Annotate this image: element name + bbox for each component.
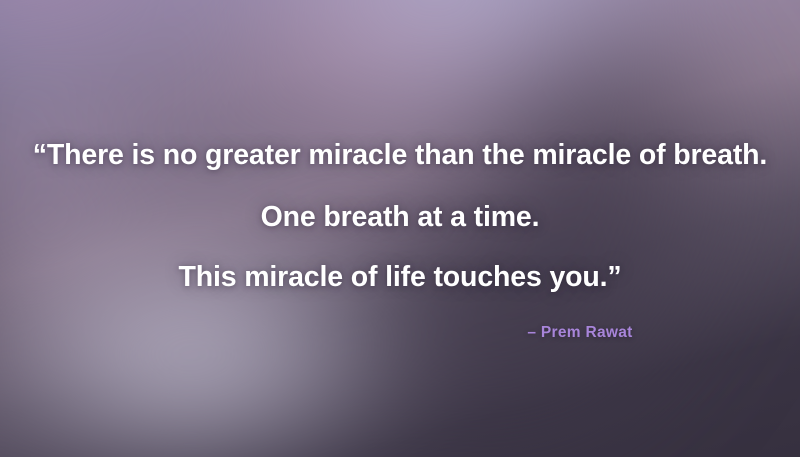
quote-line-2: One breath at a time. (0, 201, 800, 234)
quote-content: “There is no greater miracle than the mi… (0, 0, 800, 457)
quote-card: “There is no greater miracle than the mi… (0, 0, 800, 457)
quote-line-3: This miracle of life touches you.” (0, 261, 800, 294)
quote-line-1: “There is no greater miracle than the mi… (0, 139, 800, 172)
attribution-text: – Prem Rawat (527, 324, 632, 342)
quote-attribution: – Prem Rawat (0, 324, 800, 342)
